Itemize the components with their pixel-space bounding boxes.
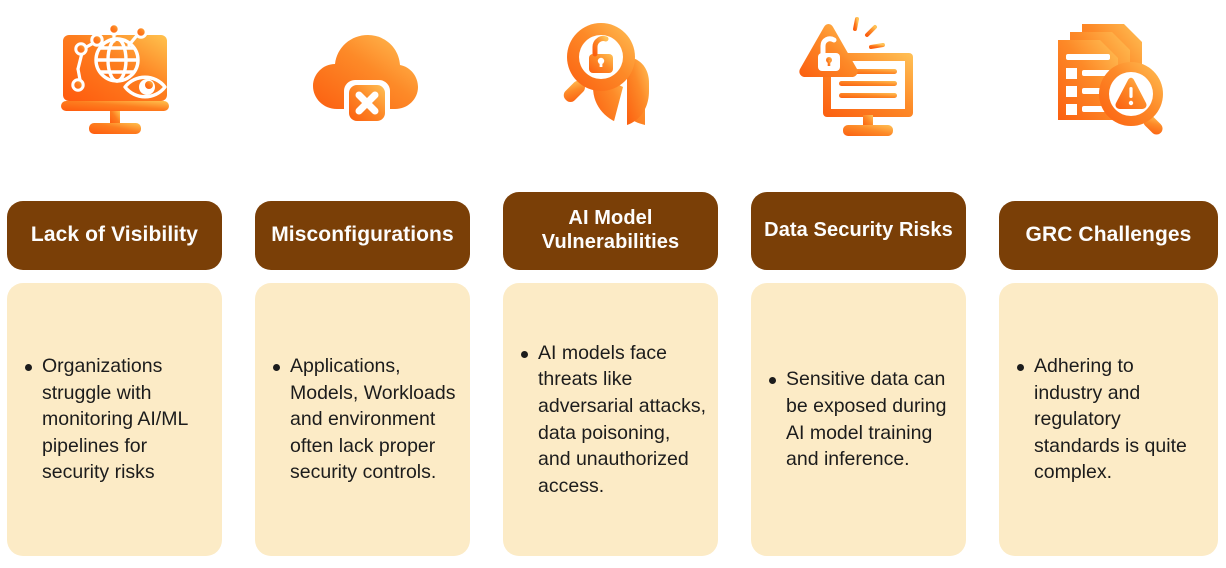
card-ai-model-vulnerabilities: AI models face threats like adversarial … (503, 283, 718, 556)
bullet-list: Sensitive data can be exposed during AI … (751, 366, 966, 472)
list-item: Applications, Models, Workloads and envi… (273, 353, 458, 486)
columns-container: Lack of Visibility Organizations struggl… (0, 0, 1226, 568)
header-misconfigurations[interactable]: Misconfigurations (255, 201, 470, 270)
bullet-list: Applications, Models, Workloads and envi… (255, 353, 470, 486)
documents-magnifier-warning-icon (999, 0, 1218, 150)
card-lack-of-visibility: Organizations struggle with monitoring A… (7, 283, 222, 556)
bullet-list: Organizations struggle with monitoring A… (7, 353, 222, 486)
bullet-list: AI models face threats like adversarial … (503, 340, 718, 499)
list-item: AI models face threats like adversarial … (521, 340, 706, 499)
card-data-security-risks: Sensitive data can be exposed during AI … (751, 283, 966, 556)
column-misconfigurations: Misconfigurations Applications, Models, … (255, 0, 470, 568)
list-item: Organizations struggle with monitoring A… (25, 353, 210, 486)
card-grc-challenges: Adhering to industry and regulatory stan… (999, 283, 1218, 556)
list-item: Adhering to industry and regulatory stan… (1017, 353, 1206, 486)
header-data-security-risks[interactable]: Data Security Risks (751, 192, 966, 270)
column-grc-challenges: GRC Challenges Adhering to industry and … (999, 0, 1218, 568)
header-grc-challenges[interactable]: GRC Challenges (999, 201, 1218, 270)
bullet-list: Adhering to industry and regulatory stan… (999, 353, 1218, 486)
cloud-error-icon (255, 0, 470, 150)
monitor-warning-unlock-icon (751, 0, 966, 150)
column-ai-model-vulnerabilities: AI Model Vulnerabilities AI models face … (503, 0, 718, 568)
header-lack-of-visibility[interactable]: Lack of Visibility (7, 201, 222, 270)
card-misconfigurations: Applications, Models, Workloads and envi… (255, 283, 470, 556)
list-item: Sensitive data can be exposed during AI … (769, 366, 954, 472)
ai-security-challenges-infographic: Lack of Visibility Organizations struggl… (0, 0, 1226, 568)
column-data-security-risks: Data Security Risks Sensitive data can b… (751, 0, 966, 568)
column-lack-of-visibility: Lack of Visibility Organizations struggl… (7, 0, 222, 568)
magnifier-unlock-broken-shield-icon (503, 0, 718, 150)
header-ai-model-vulnerabilities[interactable]: AI Model Vulnerabilities (503, 192, 718, 270)
monitor-globe-eye-icon (7, 0, 222, 150)
